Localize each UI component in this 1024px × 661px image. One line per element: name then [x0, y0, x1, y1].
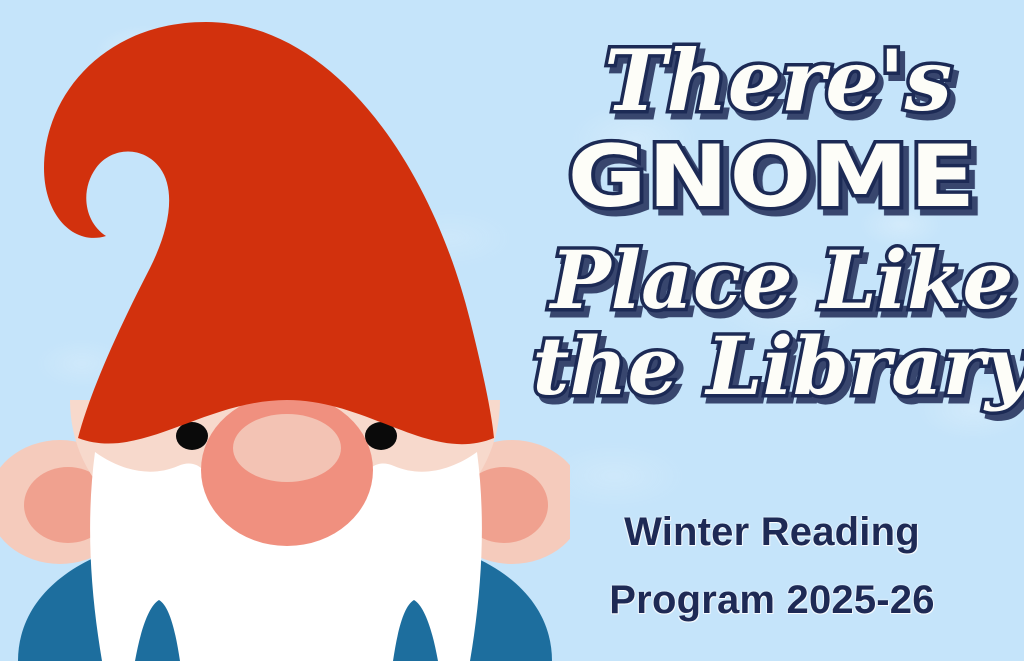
subhead-group: Winter Reading Program 2025-26 — [520, 498, 1024, 634]
gnome-character — [0, 0, 570, 661]
headline-line-1: There's — [604, 31, 952, 130]
gnome-nose — [201, 394, 373, 546]
headline-line-3: Place Like — [549, 233, 1014, 327]
headline-line-2: GNOME — [568, 126, 977, 227]
subhead-line-1: Winter Reading — [520, 498, 1024, 566]
gnome-hat — [44, 22, 494, 444]
gnome-eye-left — [176, 422, 208, 450]
subhead-line-2: Program 2025-26 — [520, 566, 1024, 634]
headline-artwork: There's GNOME Place Like the Library — [520, 8, 1024, 428]
poster-canvas: There's GNOME Place Like the Library Win… — [0, 0, 1024, 661]
headline-line-4: the Library — [532, 319, 1024, 413]
headline-group: There's GNOME Place Like the Library Win… — [520, 0, 1024, 661]
